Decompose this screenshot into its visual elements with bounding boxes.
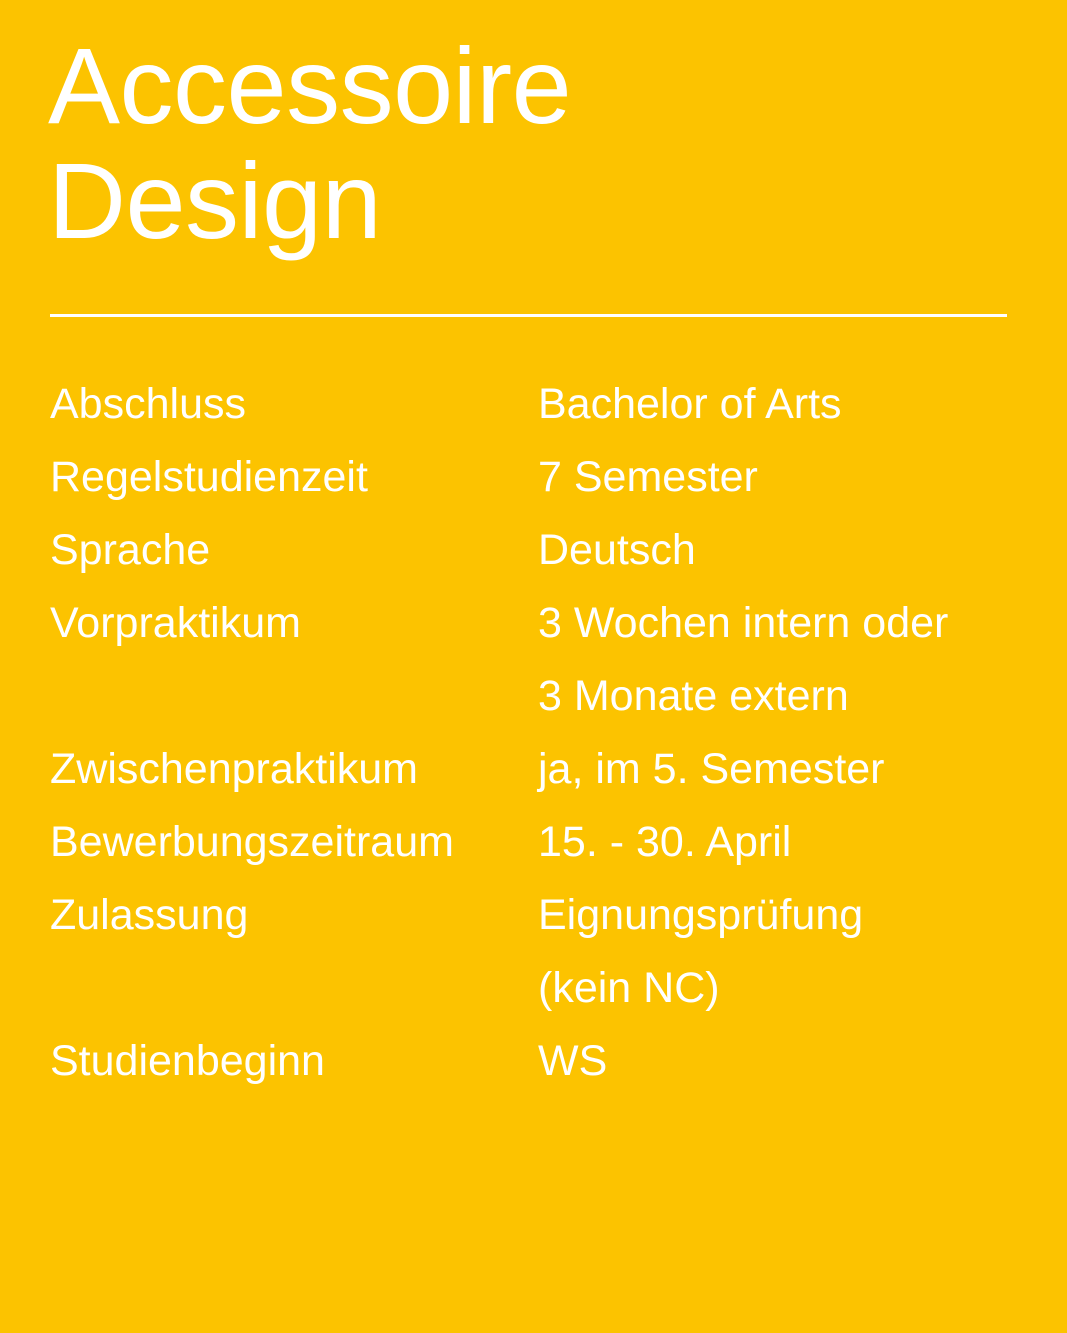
fact-value: Deutsch	[538, 514, 696, 587]
fact-value-line: ja, im 5. Semester	[538, 733, 885, 806]
fact-label: Studienbeginn	[50, 1025, 325, 1098]
table-row: Regelstudienzeit 7 Semester	[0, 441, 1067, 514]
fact-value: 3 Wochen intern oder 3 Monate extern	[538, 587, 948, 733]
page-title: Accessoire Design	[48, 28, 1008, 258]
fact-value-line: Bachelor of Arts	[538, 368, 842, 441]
fact-label: Abschluss	[50, 368, 246, 441]
fact-value: Bachelor of Arts	[538, 368, 842, 441]
page-title-line-2: Design	[48, 143, 1008, 258]
table-row: Bewerbungszeitraum 15. - 30. April	[0, 806, 1067, 879]
table-row: Sprache Deutsch	[0, 514, 1067, 587]
table-row: Studienbeginn WS	[0, 1025, 1067, 1098]
fact-value-line: 7 Semester	[538, 441, 758, 514]
table-row: Zwischenpraktikum ja, im 5. Semester	[0, 733, 1067, 806]
fact-value: Eignungsprüfung (kein NC)	[538, 879, 863, 1025]
program-facts-table: Abschluss Bachelor of Arts Regelstudienz…	[0, 368, 1067, 1098]
fact-value-line: 3 Wochen intern oder	[538, 587, 948, 660]
fact-value: 15. - 30. April	[538, 806, 791, 879]
fact-label: Vorpraktikum	[50, 587, 301, 660]
fact-label: Sprache	[50, 514, 210, 587]
table-row: Abschluss Bachelor of Arts	[0, 368, 1067, 441]
title-divider	[50, 314, 1007, 317]
fact-value-line: 3 Monate extern	[538, 660, 948, 733]
fact-value-line: Deutsch	[538, 514, 696, 587]
fact-value-line: (kein NC)	[538, 952, 863, 1025]
fact-value-line: Eignungsprüfung	[538, 879, 863, 952]
fact-value: ja, im 5. Semester	[538, 733, 885, 806]
table-row: Zulassung Eignungsprüfung (kein NC)	[0, 879, 1067, 1025]
page-title-line-1: Accessoire	[48, 28, 1008, 143]
fact-label: Bewerbungszeitraum	[50, 806, 454, 879]
fact-value: 7 Semester	[538, 441, 758, 514]
fact-label: Zwischenpraktikum	[50, 733, 418, 806]
fact-value-line: 15. - 30. April	[538, 806, 791, 879]
fact-value-line: WS	[538, 1025, 607, 1098]
fact-label: Regelstudienzeit	[50, 441, 368, 514]
study-program-info-card: Accessoire Design Abschluss Bachelor of …	[0, 0, 1067, 1333]
fact-value: WS	[538, 1025, 607, 1098]
table-row: Vorpraktikum 3 Wochen intern oder 3 Mona…	[0, 587, 1067, 733]
fact-label: Zulassung	[50, 879, 248, 952]
